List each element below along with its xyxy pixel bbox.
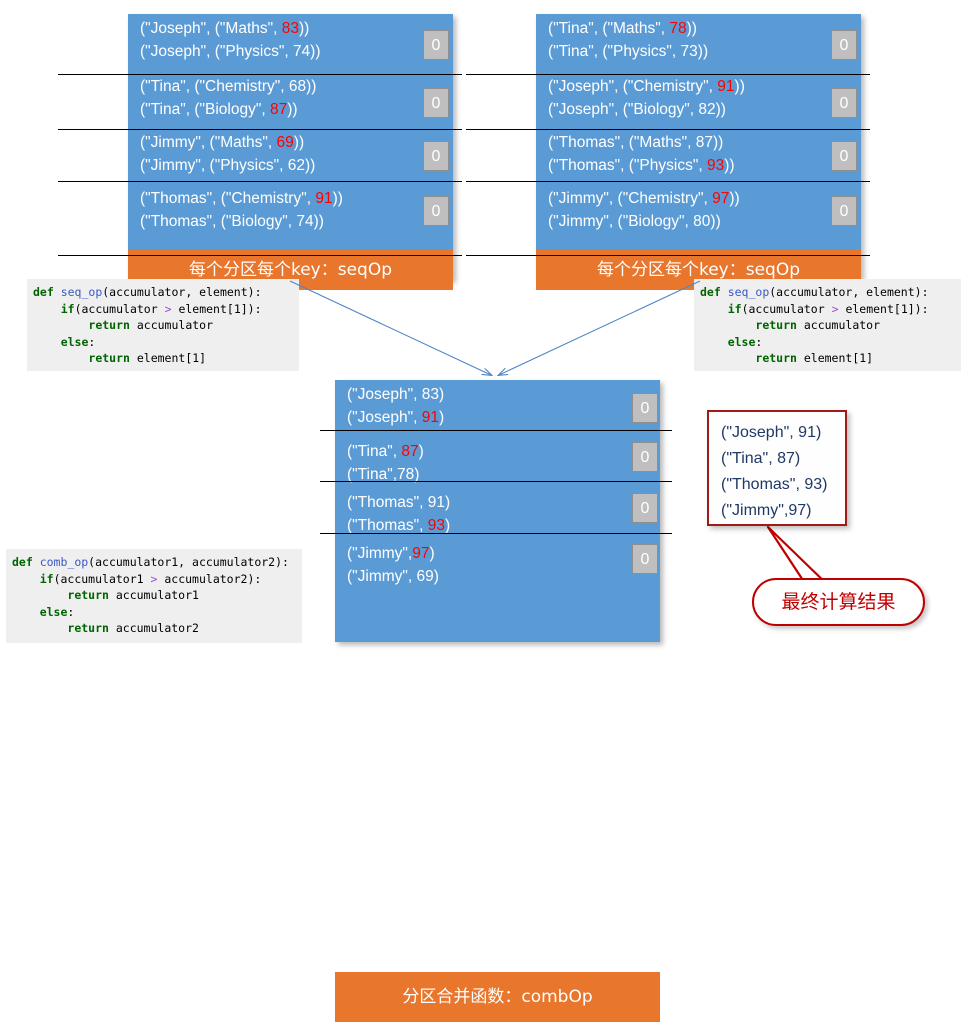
accumulator-badge: 0 xyxy=(831,30,857,60)
pair-line: ("Tina", ("Biology", 87)) xyxy=(140,98,443,121)
partition-right-separator xyxy=(466,74,870,75)
callout-label: 最终计算结果 xyxy=(781,591,895,613)
pair-line: ("Joseph", ("Physics", 74)) xyxy=(140,40,443,63)
merged-separator xyxy=(320,533,672,534)
pair-text: ) xyxy=(439,409,444,426)
pair-text: ("Jimmy", ("Physics", 62)) xyxy=(140,157,315,174)
partition-left-separator xyxy=(58,181,462,182)
highlight-value: 69 xyxy=(277,134,294,151)
pair-line: ("Thomas", ("Maths", 87)) xyxy=(548,131,851,154)
partition-left-row-2: ("Jimmy", ("Maths", 69))("Jimmy", ("Phys… xyxy=(128,128,453,184)
code-token: element[1] xyxy=(797,351,873,365)
code-token-kw: return xyxy=(88,351,130,365)
pair-text: ("Thomas", xyxy=(347,517,428,534)
code-token: (accumulator1 xyxy=(54,572,151,586)
pair-text: ("Joseph", ("Chemistry", xyxy=(548,78,717,95)
pair-line: ("Joseph", ("Chemistry", 91)) xyxy=(548,75,851,98)
code-block-comb-op: def comb_op(accumulator1, accumulator2):… xyxy=(6,549,302,643)
pair-text: ("Thomas", 91) xyxy=(347,494,450,511)
pair-text: )) xyxy=(724,157,734,174)
partition-left-separator xyxy=(58,129,462,130)
highlight-value: 87 xyxy=(401,443,418,460)
pair-text: ) xyxy=(419,443,424,460)
partition-right-box: ("Tina", ("Maths", 78))("Tina", ("Physic… xyxy=(536,14,861,280)
code-token-kw: else xyxy=(728,335,756,349)
accumulator-badge: 0 xyxy=(423,30,449,60)
accumulator-badge: 0 xyxy=(632,393,658,423)
highlight-value: 93 xyxy=(707,157,724,174)
pair-line: ("Jimmy", ("Maths", 69)) xyxy=(140,131,443,154)
pair-text: )) xyxy=(729,190,739,207)
pair-text: ("Jimmy", ("Chemistry", xyxy=(548,190,712,207)
partition-left-separator xyxy=(58,74,462,75)
pair-line: ("Thomas", ("Biology", 74)) xyxy=(140,210,443,233)
pair-line: ("Tina",78) xyxy=(347,463,650,486)
partition-left-separator xyxy=(58,255,462,256)
pair-text: ("Joseph", 83) xyxy=(347,386,444,403)
code-token-fn: seq_op xyxy=(728,285,770,299)
partition-right-separator xyxy=(466,255,870,256)
pair-line: ("Tina", ("Physics", 73)) xyxy=(548,40,851,63)
arrow-left-to-merged xyxy=(290,281,491,375)
pair-line: ("Jimmy", ("Chemistry", 97)) xyxy=(548,187,851,210)
partition-right-row-2: ("Thomas", ("Maths", 87))("Thomas", ("Ph… xyxy=(536,128,861,184)
pair-line: ("Tina", 87) xyxy=(347,440,650,463)
accumulator-badge: 0 xyxy=(831,88,857,118)
pair-line: ("Jimmy", 69) xyxy=(347,565,650,588)
pair-text: ("Thomas", ("Maths", 87)) xyxy=(548,134,723,151)
partition-left-row-3: ("Thomas", ("Chemistry", 91))("Thomas", … xyxy=(128,184,453,240)
pair-text: ("Tina", ("Physics", 73)) xyxy=(548,43,708,60)
code-block-seq-op-left: def seq_op(accumulator, element): if(acc… xyxy=(27,279,299,371)
code-token-kw: if xyxy=(40,572,54,586)
result-line: ("Joseph", 91) xyxy=(721,420,835,446)
merged-row-0: ("Joseph", 83)("Joseph", 91) xyxy=(335,380,660,437)
callout-final-result: 最终计算结果 xyxy=(752,578,925,626)
partition-left-row-1: ("Tina", ("Chemistry", 68))("Tina", ("Bi… xyxy=(128,72,453,128)
pair-text: ("Tina", xyxy=(347,443,401,460)
highlight-value: 91 xyxy=(422,409,439,426)
code-token-kw: return xyxy=(67,588,109,602)
code-token: (accumulator xyxy=(742,302,832,316)
code-token-kw: return xyxy=(755,318,797,332)
code-token-op: > xyxy=(165,302,172,316)
pair-line: ("Thomas", ("Chemistry", 91)) xyxy=(140,187,443,210)
partition-right-separator xyxy=(466,181,870,182)
pair-line: ("Joseph", 91) xyxy=(347,406,650,429)
highlight-value: 97 xyxy=(412,545,429,562)
partition-left-row-0: ("Joseph", ("Maths", 83))("Joseph", ("Ph… xyxy=(128,14,453,72)
code-token-kw: return xyxy=(67,621,109,635)
pair-text: ("Joseph", ("Biology", 82)) xyxy=(548,101,726,118)
highlight-value: 91 xyxy=(717,78,734,95)
pair-text: ("Thomas", ("Chemistry", xyxy=(140,190,315,207)
pair-text: )) xyxy=(687,20,697,37)
pair-text: ("Joseph", ("Physics", 74)) xyxy=(140,43,321,60)
accumulator-badge: 0 xyxy=(423,196,449,226)
merged-separator xyxy=(320,481,672,482)
partition-right-row-3: ("Jimmy", ("Chemistry", 97))("Jimmy", ("… xyxy=(536,184,861,240)
accumulator-badge: 0 xyxy=(831,196,857,226)
pair-text: )) xyxy=(294,134,304,151)
code-token-fn: seq_op xyxy=(61,285,103,299)
code-token-kw: return xyxy=(755,351,797,365)
pair-line: ("Jimmy", ("Physics", 62)) xyxy=(140,154,443,177)
pair-line: ("Joseph", 83) xyxy=(347,383,650,406)
code-token-kw: return xyxy=(88,318,130,332)
arrow-right-to-merged xyxy=(499,281,700,375)
merged-row-3: ("Jimmy",97)("Jimmy", 69) xyxy=(335,539,660,590)
partition-right-separator xyxy=(466,129,870,130)
merged-partition-footer: 分区合并函数：combOp xyxy=(335,972,660,1022)
merged-partition-box: ("Joseph", 83)("Joseph", 91) ("Tina", 87… xyxy=(335,380,660,642)
code-token-kw: if xyxy=(728,302,742,316)
highlight-value: 78 xyxy=(669,20,686,37)
pair-line: ("Tina", ("Maths", 78)) xyxy=(548,17,851,40)
pair-line: ("Thomas", 91) xyxy=(347,491,650,514)
pair-line: ("Joseph", ("Biology", 82)) xyxy=(548,98,851,121)
pair-text: ) xyxy=(430,545,435,562)
partition-right-row-0: ("Tina", ("Maths", 78))("Tina", ("Physic… xyxy=(536,14,861,72)
code-token-kw: def xyxy=(700,285,728,299)
code-token-op: > xyxy=(832,302,839,316)
accumulator-badge: 0 xyxy=(423,88,449,118)
code-token: element[1] xyxy=(130,351,206,365)
pair-text: ("Tina", ("Chemistry", 68)) xyxy=(140,78,316,95)
pair-text: ("Jimmy", ("Biology", 80)) xyxy=(548,213,721,230)
highlight-value: 97 xyxy=(712,190,729,207)
result-line: ("Tina", 87) xyxy=(721,446,835,472)
pair-text: )) xyxy=(299,20,309,37)
pair-line: ("Joseph", ("Maths", 83)) xyxy=(140,17,443,40)
code-token-fn: comb_op xyxy=(40,555,88,569)
highlight-value: 93 xyxy=(428,517,445,534)
partition-right-row-1: ("Joseph", ("Chemistry", 91))("Joseph", … xyxy=(536,72,861,128)
pair-text: ("Tina", ("Maths", xyxy=(548,20,669,37)
code-token-kw: if xyxy=(61,302,75,316)
pair-text: ("Jimmy", xyxy=(347,545,412,562)
result-line: ("Thomas", 93) xyxy=(721,472,835,498)
pair-line: ("Tina", ("Chemistry", 68)) xyxy=(140,75,443,98)
pair-line: ("Jimmy", ("Biology", 80)) xyxy=(548,210,851,233)
code-block-seq-op-right: def seq_op(accumulator, element): if(acc… xyxy=(694,279,961,371)
code-token: accumulator2 xyxy=(109,621,199,635)
pair-line: ("Jimmy",97) xyxy=(347,542,650,565)
pair-text: ("Thomas", ("Physics", xyxy=(548,157,707,174)
code-token-kw: def xyxy=(12,555,40,569)
accumulator-badge: 0 xyxy=(632,442,658,472)
code-token-kw: else xyxy=(40,605,68,619)
result-line: ("Jimmy",97) xyxy=(721,498,835,524)
accumulator-badge: 0 xyxy=(831,141,857,171)
pair-text: )) xyxy=(287,101,297,118)
partition-left-box: ("Joseph", ("Maths", 83))("Joseph", ("Ph… xyxy=(128,14,453,280)
pair-text: ("Thomas", ("Biology", 74)) xyxy=(140,213,324,230)
code-token-kw: else xyxy=(61,335,89,349)
final-result-box: ("Joseph", 91) ("Tina", 87) ("Thomas", 9… xyxy=(707,410,847,526)
pair-text: ("Joseph", ("Maths", xyxy=(140,20,282,37)
highlight-value: 91 xyxy=(315,190,332,207)
pair-text: ) xyxy=(445,517,450,534)
pair-text: )) xyxy=(735,78,745,95)
accumulator-badge: 0 xyxy=(632,493,658,523)
pair-text: ("Tina", ("Biology", xyxy=(140,101,270,118)
code-token-kw: def xyxy=(33,285,61,299)
merged-row-2: ("Thomas", 91)("Thomas", 93) xyxy=(335,488,660,539)
pair-text: ("Joseph", xyxy=(347,409,422,426)
highlight-value: 87 xyxy=(270,101,287,118)
accumulator-badge: 0 xyxy=(423,141,449,171)
accumulator-badge: 0 xyxy=(632,544,658,574)
pair-text: ("Jimmy", 69) xyxy=(347,568,439,585)
pair-text: ("Jimmy", ("Maths", xyxy=(140,134,277,151)
pair-line: ("Thomas", ("Physics", 93)) xyxy=(548,154,851,177)
code-token: (accumulator xyxy=(75,302,165,316)
pair-text: )) xyxy=(333,190,343,207)
merged-separator xyxy=(320,430,672,431)
highlight-value: 83 xyxy=(282,20,299,37)
